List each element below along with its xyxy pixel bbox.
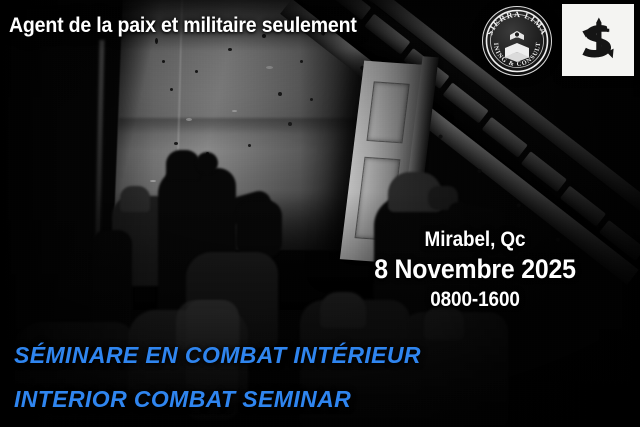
debris-speck bbox=[186, 118, 192, 121]
operator-helmet bbox=[166, 150, 200, 180]
debris-speck bbox=[170, 88, 173, 91]
operator-gear bbox=[236, 200, 282, 258]
stair-rivet bbox=[516, 203, 522, 209]
event-city: Mirabel, Qc bbox=[345, 228, 606, 252]
operator-helmet bbox=[196, 152, 218, 174]
poster-canvas: Agent de la paix et militaire seulement … bbox=[0, 0, 640, 427]
seminar-title-fr: SÉMINARE EN COMBAT INTÉRIEUR bbox=[14, 342, 421, 369]
debris-speck bbox=[195, 70, 198, 73]
debris-speck bbox=[162, 60, 165, 63]
event-details: Mirabel, Qc 8 Novembre 2025 0800-1600 bbox=[330, 228, 620, 312]
debris-speck bbox=[228, 48, 232, 51]
seminar-title-en: INTERIOR COMBAT SEMINAR bbox=[14, 386, 351, 413]
debris-speck bbox=[155, 38, 158, 44]
stair-rivet bbox=[477, 168, 483, 174]
sierra-lima-seal-logo: SIERRA LIMA TRAINING & CONSULTING bbox=[482, 6, 552, 76]
operator-helmet bbox=[120, 186, 150, 212]
event-time: 0800-1600 bbox=[345, 288, 606, 312]
event-date: 8 Novembre 2025 bbox=[342, 254, 609, 285]
s-dagger-mark-logo bbox=[562, 4, 634, 76]
page-title: Agent de la paix et militaire seulement bbox=[9, 14, 357, 38]
